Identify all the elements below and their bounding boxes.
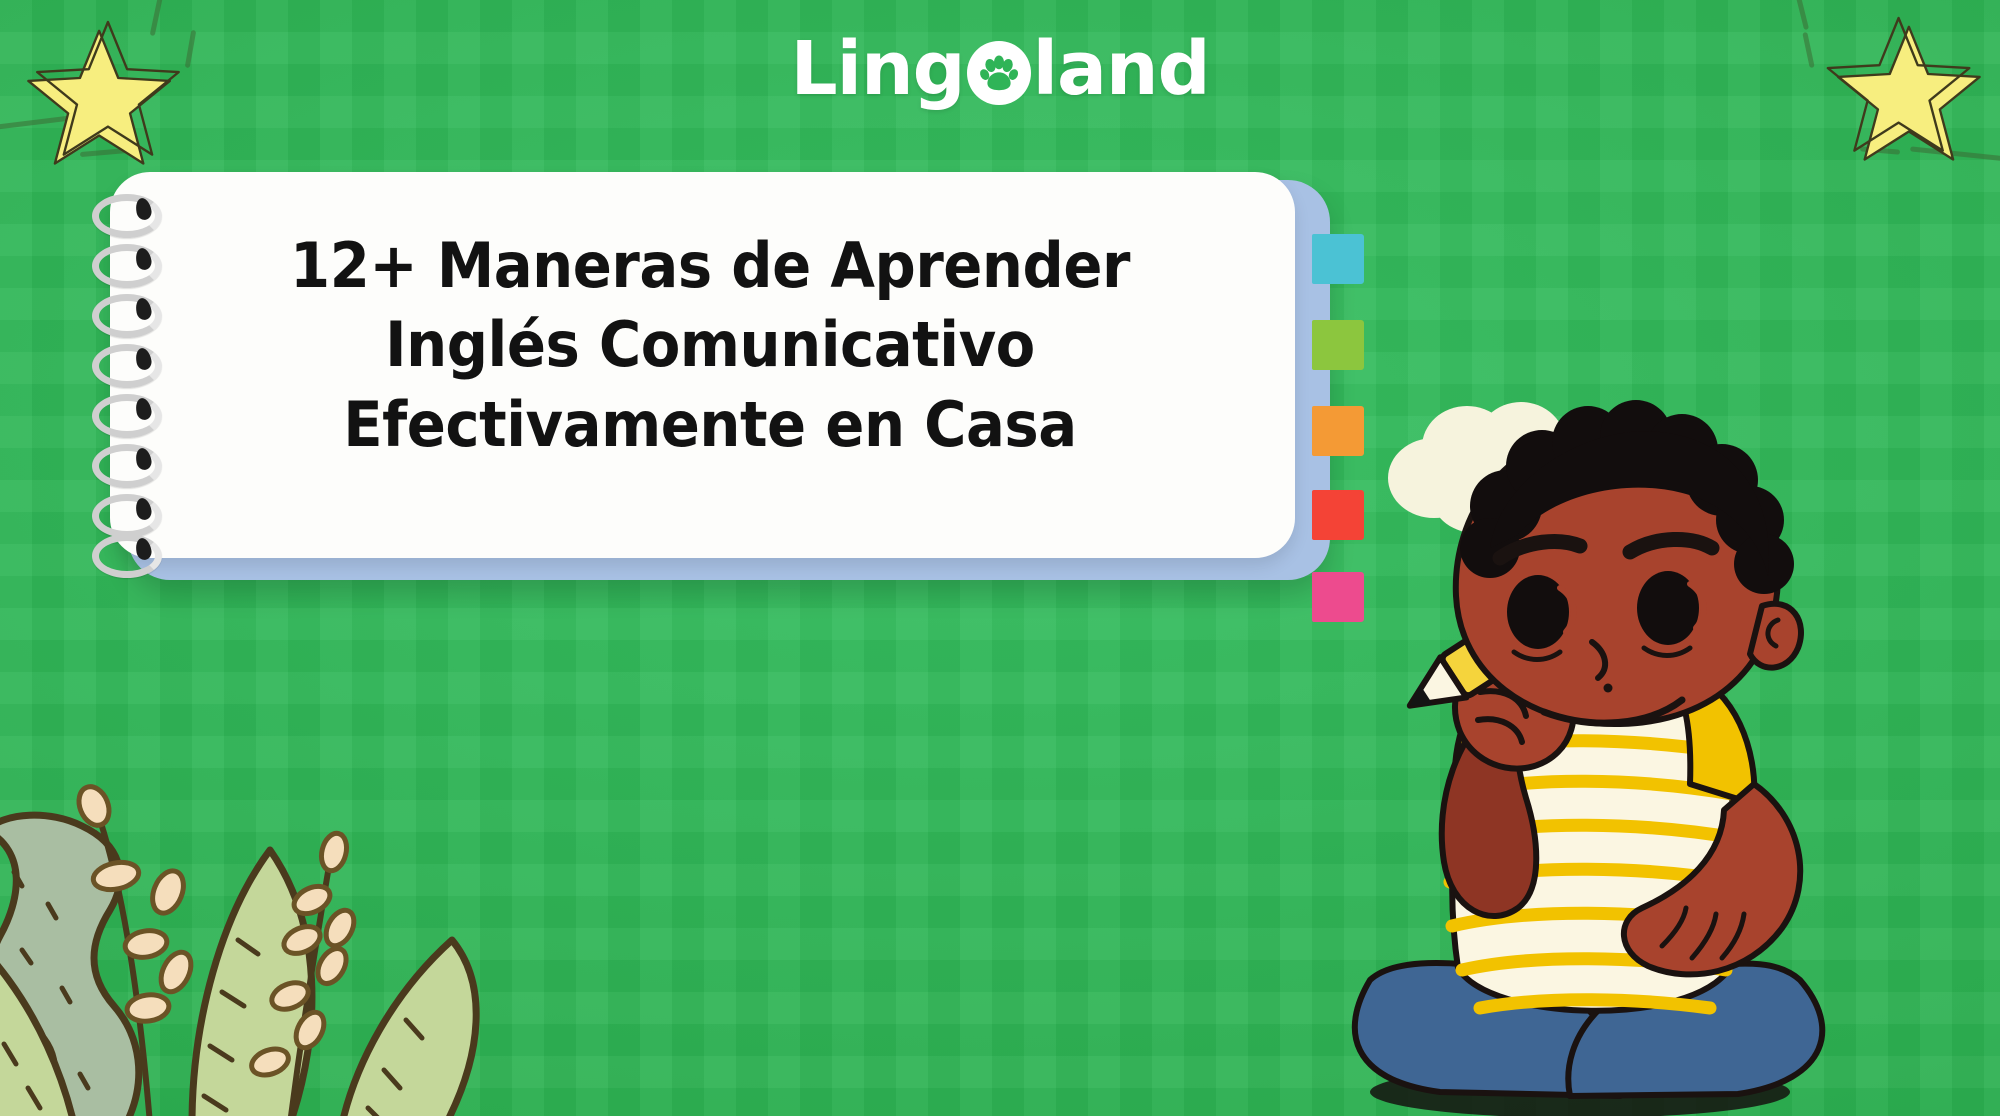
page-title-line-1: 12+ Maneras de Aprender [236, 226, 1185, 305]
paw-print-icon [967, 41, 1031, 105]
page-title: 12+ Maneras de Aprender Inglés Comunicat… [236, 226, 1185, 464]
plant-decoration [0, 744, 490, 1116]
tab-cyan[interactable] [1312, 234, 1364, 284]
notebook-spiral-binding [92, 194, 168, 554]
poster-canvas: Ling land 12+ Maneras de Aprender Inglés… [0, 0, 2000, 1116]
brand-logo-text-right: land [1033, 32, 1210, 106]
page-title-line-3: Efectivamente en Casa [236, 385, 1185, 464]
squiggle-decor [1796, 0, 1809, 30]
boy-thinking-with-pencil-illustration [1330, 380, 1890, 1116]
page-title-line-2: Inglés Comunicativo [236, 305, 1185, 384]
notebook-card: 12+ Maneras de Aprender Inglés Comunicat… [110, 172, 1330, 580]
brand-logo[interactable]: Ling land [0, 32, 2000, 106]
brand-logo-text-left: Ling [790, 32, 964, 106]
tab-lime[interactable] [1312, 320, 1364, 370]
